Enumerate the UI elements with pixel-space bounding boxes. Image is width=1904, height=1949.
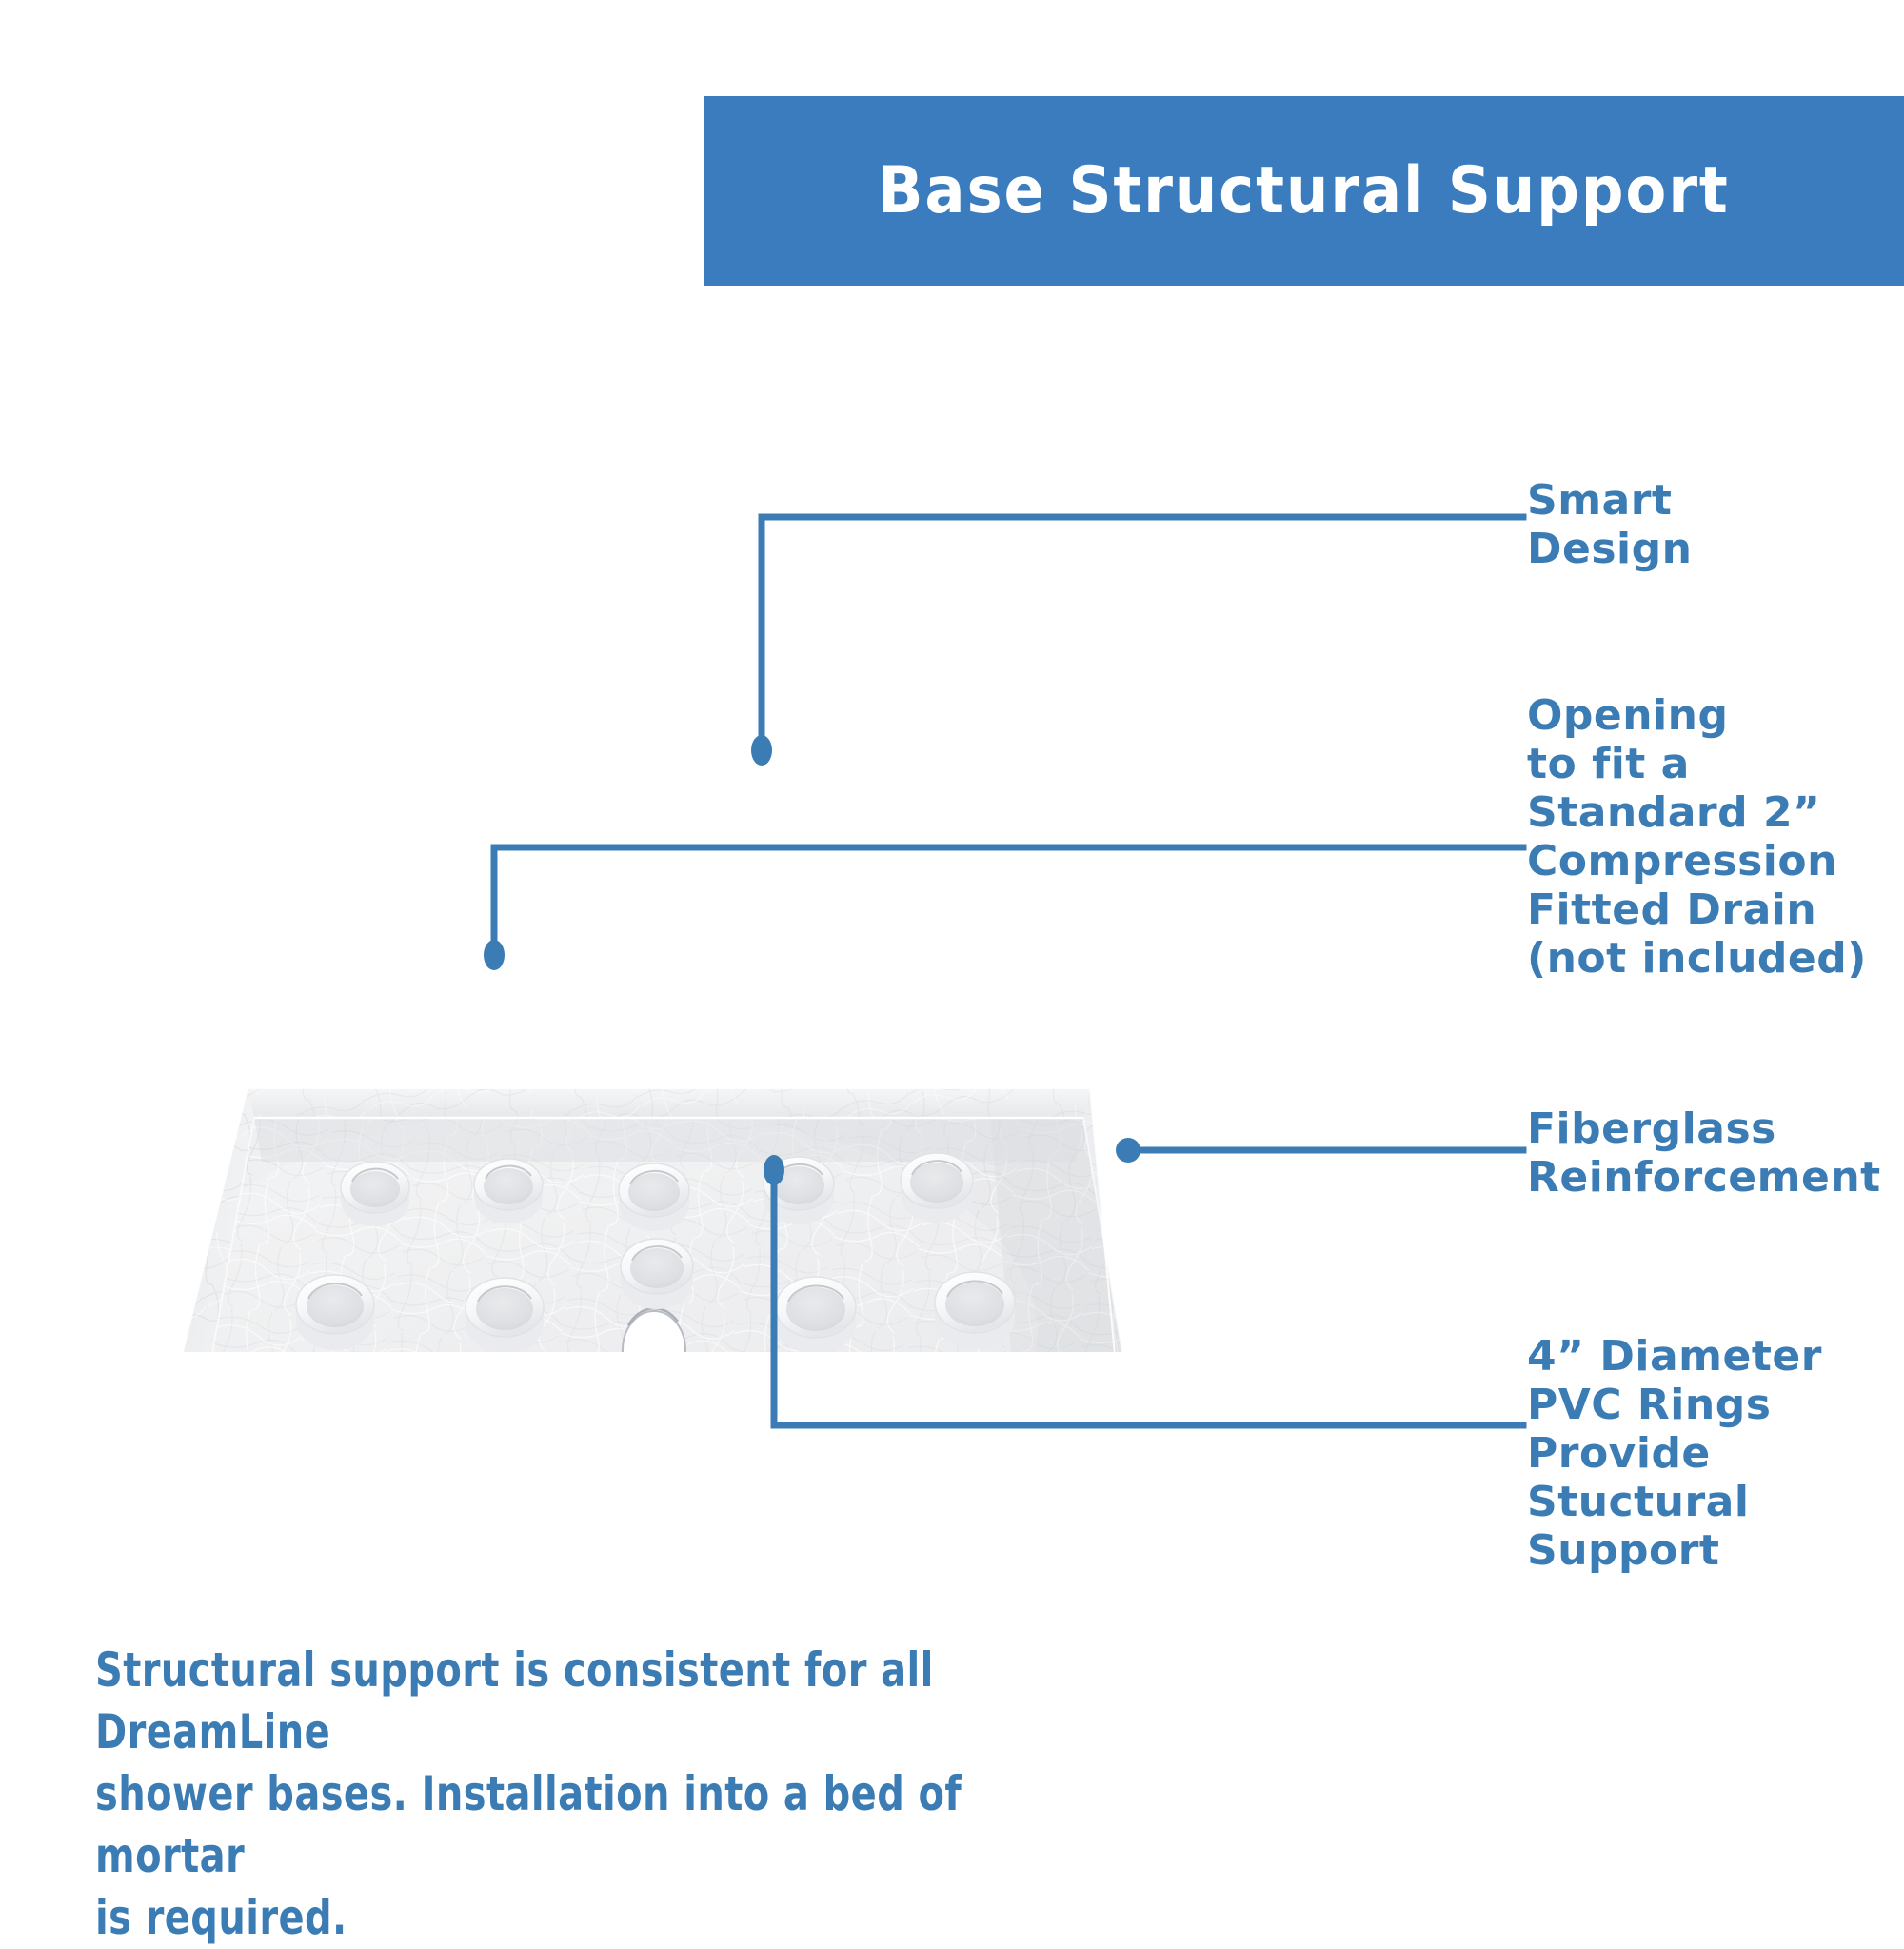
pvc-ring [341, 1162, 409, 1226]
pvc-ring [619, 1163, 689, 1231]
pvc-ring [466, 1278, 544, 1352]
page-title: Base Structural Support [878, 159, 1730, 224]
pvc-ring [474, 1159, 543, 1223]
pvc-ring [776, 1277, 856, 1352]
product-illustration [57, 609, 1485, 1352]
callout-label-opening-drain: Opening to fit a Standard 2” Compression… [1527, 691, 1867, 983]
pvc-ring [621, 1239, 693, 1309]
callout-label-smart-design: Smart Design [1527, 476, 1692, 573]
pvc-ring [296, 1275, 374, 1350]
callout-label-fiberglass-reinforcement: Fiberglass Reinforcement [1527, 1104, 1881, 1202]
pvc-ring [901, 1153, 973, 1223]
callout-label-pvc-rings: 4” Diameter PVC Rings Provide Stuctural … [1527, 1332, 1822, 1575]
header-banner: Base Structural Support [704, 96, 1904, 286]
bottom-caption: Structural support is consistent for all… [95, 1640, 1047, 1949]
fiberglass-surface [114, 1104, 1238, 1352]
pvc-ring [935, 1272, 1015, 1349]
shower-base-drawing [57, 609, 1485, 1352]
pvc-ring [764, 1157, 834, 1224]
